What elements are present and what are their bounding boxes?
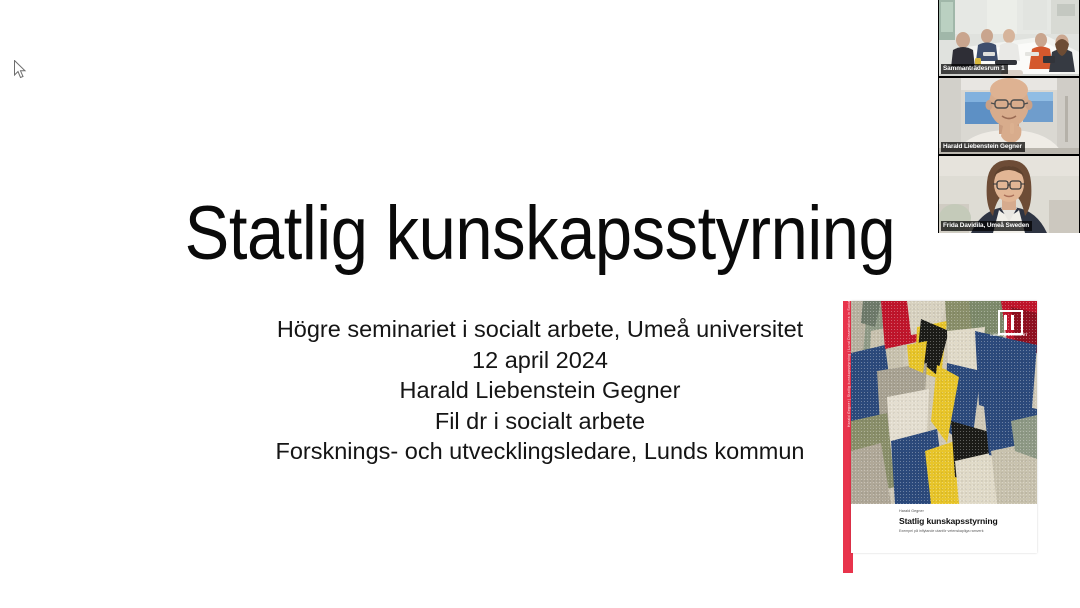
- presentation-slide: Statlig kunskapsstyrning Högre seminarie…: [0, 0, 1080, 608]
- mouse-cursor-arrow-icon: [14, 60, 28, 80]
- video-tile-frida[interactable]: Frida Davidila, Umeå Sweden: [939, 156, 1079, 233]
- video-tile-conference-room[interactable]: Sammanträdesrum 1: [939, 0, 1079, 76]
- video-participant-panel: Sammanträdesrum 1: [938, 0, 1080, 233]
- logo-text: LUNDS UNIVERSITET: [989, 333, 1029, 338]
- slide-title: Statlig kunskapsstyrning: [65, 196, 1015, 272]
- participant-name-label: Harald Liebenstein Gegner: [941, 142, 1025, 152]
- book-cover-title: Statlig kunskapsstyrning: [899, 516, 998, 526]
- participant-name-label: Sammanträdesrum 1: [941, 64, 1008, 74]
- book-cover-author: Harald Gegner: [899, 509, 924, 513]
- book-cover-text-panel: Harald Gegner Statlig kunskapsstyrning E…: [851, 504, 1037, 553]
- participant-name-label: Frida Davidila, Umeå Sweden: [941, 221, 1032, 231]
- video-tile-harald[interactable]: Harald Liebenstein Gegner: [939, 78, 1079, 154]
- book-cover-artwork: LUNDS UNIVERSITET: [851, 301, 1037, 504]
- university-logo: LUNDS UNIVERSITET: [989, 307, 1029, 349]
- logo-mark-icon: [998, 310, 1023, 335]
- book-cover-subtitle: Exempel på inflytande utanför vetenskapl…: [899, 529, 1021, 534]
- book-cover-body: LUNDS UNIVERSITET Harald Gegner Statlig …: [851, 301, 1037, 553]
- book-cover-image: Harald Gegner | Statlig kunskapsstyrning…: [843, 301, 1037, 573]
